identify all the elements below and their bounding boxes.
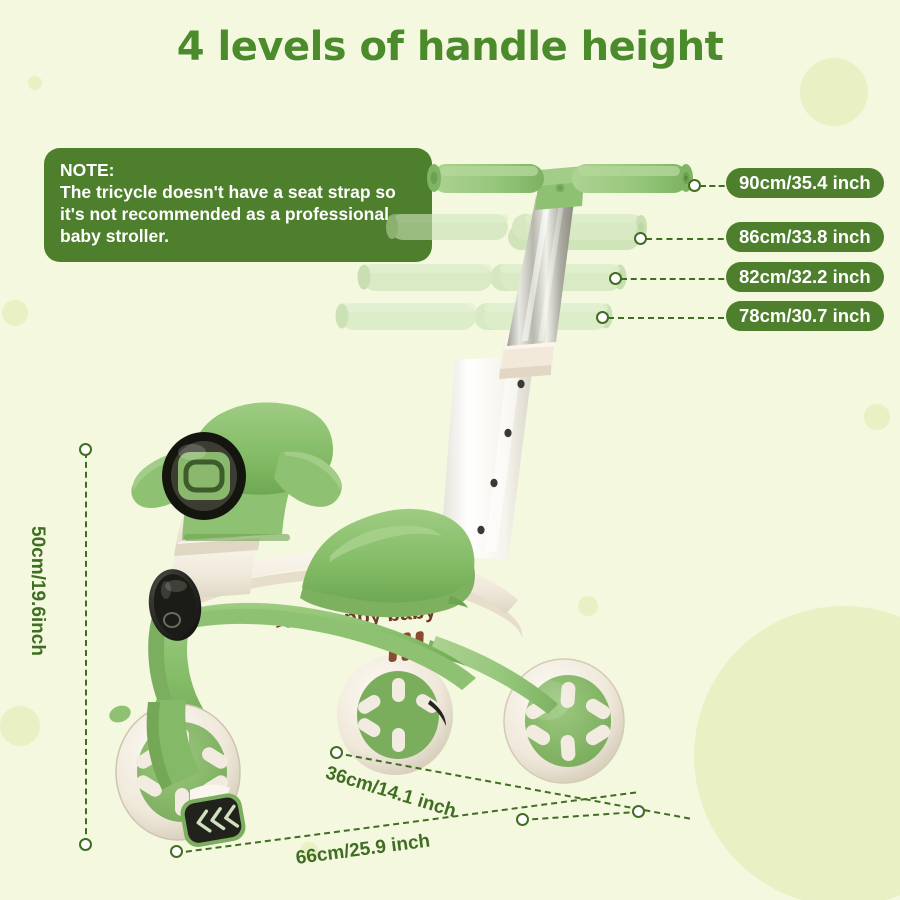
seat-height-label: 50cm/19.6inch bbox=[26, 521, 48, 661]
svg-text:· Happy baby: · Happy baby bbox=[304, 599, 438, 633]
leader-dot-82cm bbox=[609, 272, 622, 285]
page-title: 4 levels of handle height bbox=[0, 24, 900, 70]
height-label-82cm: 82cm/32.2 inch bbox=[726, 262, 884, 292]
note-box: NOTE: The tricycle doesn't have a seat s… bbox=[44, 148, 432, 262]
decorative-dot bbox=[0, 706, 40, 746]
decorative-dot bbox=[2, 300, 28, 326]
leader-line-86cm bbox=[646, 238, 734, 240]
seat-height-dimension-line bbox=[85, 452, 87, 844]
note-heading: NOTE: bbox=[60, 160, 418, 182]
leader-line-78cm bbox=[608, 317, 734, 319]
infographic-page: 4 levels of handle height NOTE: The tric… bbox=[0, 0, 900, 900]
decorative-dot bbox=[28, 76, 42, 90]
leader-line-82cm bbox=[621, 278, 734, 280]
height-label-86cm: 86cm/33.8 inch bbox=[726, 222, 884, 252]
height-label-78cm: 78cm/30.7 inch bbox=[726, 301, 884, 331]
wheelbase-dot-start bbox=[330, 746, 343, 759]
leader-dot-90cm bbox=[688, 179, 701, 192]
height-label-90cm: 90cm/35.4 inch bbox=[726, 168, 884, 198]
note-body: The tricycle doesn't have a seat strap s… bbox=[60, 182, 418, 248]
rear-axle-dimension-line bbox=[522, 811, 640, 821]
seat-height-dot-bottom bbox=[79, 838, 92, 851]
length-label: 66cm/25.9 inch bbox=[295, 830, 432, 869]
length-dot-start bbox=[170, 845, 183, 858]
decorative-circle bbox=[694, 606, 900, 900]
leader-dot-86cm bbox=[634, 232, 647, 245]
decorative-dot bbox=[864, 404, 890, 430]
seat-height-dot-top bbox=[79, 443, 92, 456]
decorative-dot bbox=[578, 596, 598, 616]
wheelbase-dot-end bbox=[516, 813, 529, 826]
leader-dot-78cm bbox=[596, 311, 609, 324]
rear-axle-dot-end bbox=[632, 805, 645, 818]
